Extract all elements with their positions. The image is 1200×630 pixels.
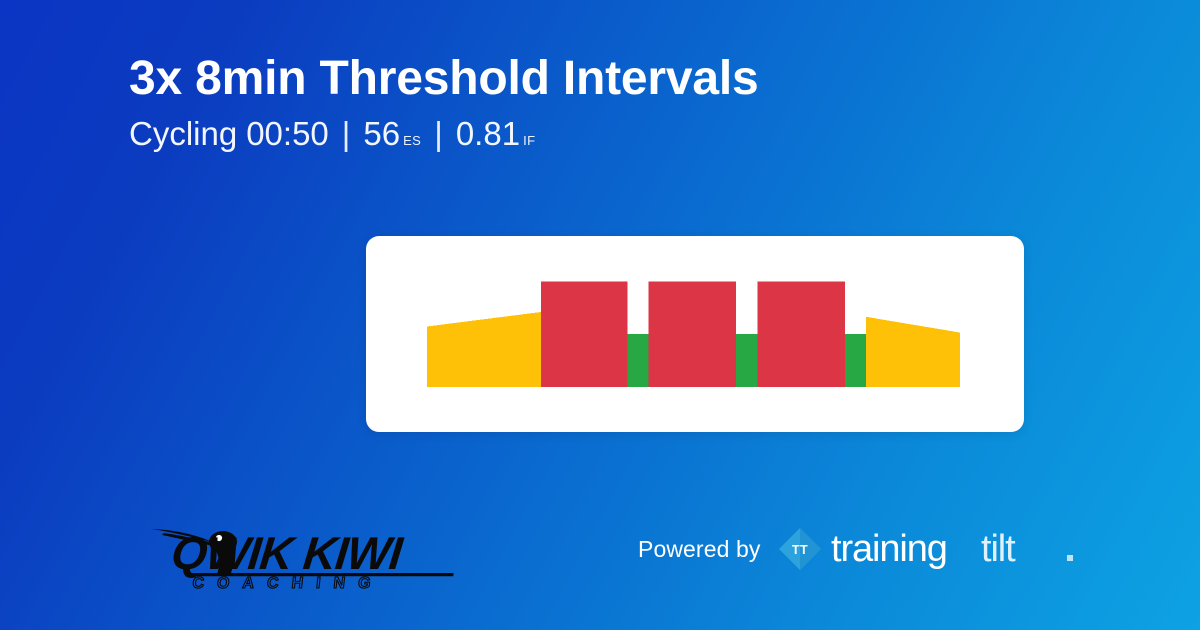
powered-by-label: Powered by — [638, 536, 760, 563]
training-tilt-diamond-icon: TT — [777, 526, 823, 572]
chart-segments — [427, 282, 960, 387]
intensity-factor-value: 0.81 — [456, 114, 520, 154]
training-word: training — [831, 528, 947, 570]
training-tilt-mark-text: TT — [792, 543, 808, 557]
chart-segment — [541, 282, 627, 387]
stress-score-value: 56 — [363, 114, 400, 154]
chart-segment — [845, 334, 866, 387]
chart-segment — [736, 334, 757, 387]
stress-score-unit: ES — [403, 133, 421, 149]
sport-label: Cycling — [129, 114, 237, 154]
summary-separator-2: | — [421, 114, 456, 154]
qwik-kiwi-wordmark: QWIK KIWI — [169, 527, 454, 579]
workout-summary: Cycling 00:50 | 56 ES | 0.81 IF — [129, 114, 1089, 154]
training-tilt-wordmark: training tilt — [831, 527, 1083, 571]
powered-by-block: Powered by TT training tilt — [638, 527, 1083, 571]
chart-segment — [649, 282, 736, 387]
chart-segment — [757, 282, 844, 387]
sport-and-duration: Cycling 00:50 — [129, 114, 329, 154]
intensity-factor: 0.81 IF — [456, 114, 536, 154]
coaching-wordmark: COACHING — [192, 574, 385, 590]
chart-segment — [866, 317, 960, 387]
qwik-kiwi-logo: QWIK KIWI COACHING — [150, 512, 475, 590]
workout-profile-card — [366, 236, 1024, 432]
duration-label: 00:50 — [246, 114, 329, 154]
share-card: 3x 8min Threshold Intervals Cycling 00:5… — [0, 0, 1200, 630]
stress-score: 56 ES — [363, 114, 421, 154]
chart-segment — [627, 334, 648, 387]
svg-text:QWIK KIWI: QWIK KIWI — [169, 527, 406, 579]
intensity-factor-unit: IF — [523, 133, 535, 149]
workout-header: 3x 8min Threshold Intervals Cycling 00:5… — [129, 52, 1089, 153]
workout-profile-chart — [366, 236, 1024, 432]
chart-segment — [427, 312, 541, 387]
wordmark-dot — [1067, 555, 1073, 561]
page-title: 3x 8min Threshold Intervals — [129, 52, 1089, 106]
tilt-word: tilt — [981, 528, 1016, 570]
summary-separator-1: | — [329, 114, 364, 154]
